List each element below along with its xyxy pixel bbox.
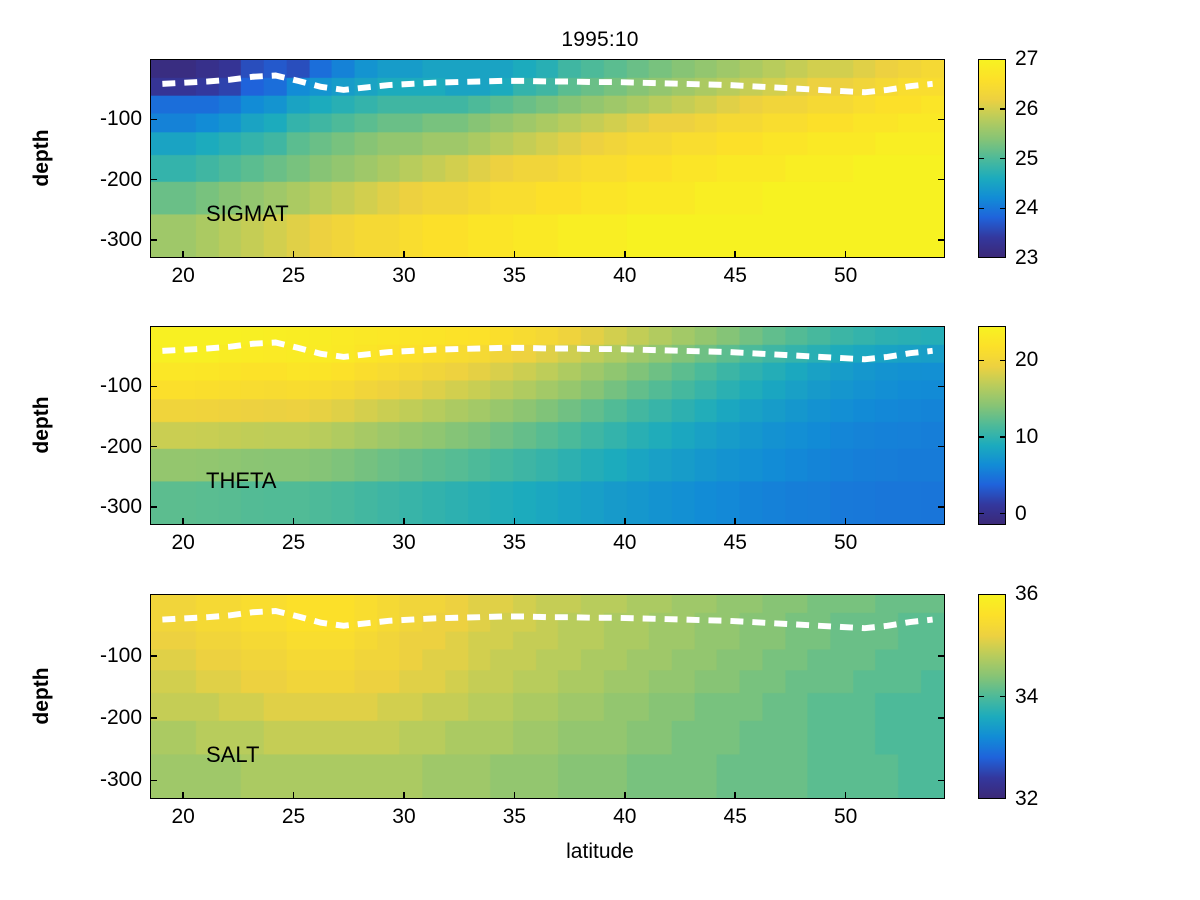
y-tick-mark (150, 655, 157, 657)
x-tick-mark (403, 792, 405, 799)
x-axis-label: latitude (0, 840, 1200, 864)
figure-root: 1995:10 SIGMAT-100-200-30020253035404550… (0, 0, 1200, 900)
y-tick-label-salt-2: -300 (48, 768, 142, 792)
colorbar-tick-label-salt-0: 32 (1015, 787, 1038, 811)
x-tick-mark (734, 792, 736, 799)
colorbar-tick-label-salt-1: 34 (1015, 685, 1038, 709)
colorbar-tick-mark (1000, 696, 1006, 698)
colorbar-salt[interactable]: 323436 (978, 594, 1006, 799)
y-tick-mark (938, 780, 945, 782)
y-tick-label-salt-1: -200 (48, 706, 142, 730)
x-tick-label-salt-3: 35 (503, 805, 526, 829)
x-tick-label-salt-5: 45 (724, 805, 747, 829)
y-tick-mark (938, 655, 945, 657)
x-tick-label-salt-4: 40 (613, 805, 636, 829)
colorbar-tick-label-salt-2: 36 (1015, 582, 1038, 606)
y-tick-mark (150, 717, 157, 719)
x-tick-mark (182, 792, 184, 799)
x-tick-mark (624, 792, 626, 799)
x-tick-mark (514, 792, 516, 799)
panel-salt: SALT-100-200-30020253035404550depth32343… (0, 0, 1200, 900)
x-tick-label-salt-6: 50 (834, 805, 857, 829)
x-tick-mark (845, 792, 847, 799)
x-tick-label-salt-1: 25 (282, 805, 305, 829)
x-tick-mark (293, 792, 295, 799)
y-tick-label-salt-0: -100 (48, 644, 142, 668)
colorbar-tick-mark (978, 696, 984, 698)
y-tick-mark (150, 780, 157, 782)
heatmap-salt (151, 595, 944, 798)
x-tick-label-salt-2: 30 (392, 805, 415, 829)
plot-area-salt[interactable]: SALT (150, 594, 945, 799)
y-axis-label-salt: depth (30, 636, 54, 756)
panel-label-salt: SALT (206, 742, 259, 768)
y-tick-mark (938, 717, 945, 719)
x-tick-label-salt-0: 20 (171, 805, 194, 829)
